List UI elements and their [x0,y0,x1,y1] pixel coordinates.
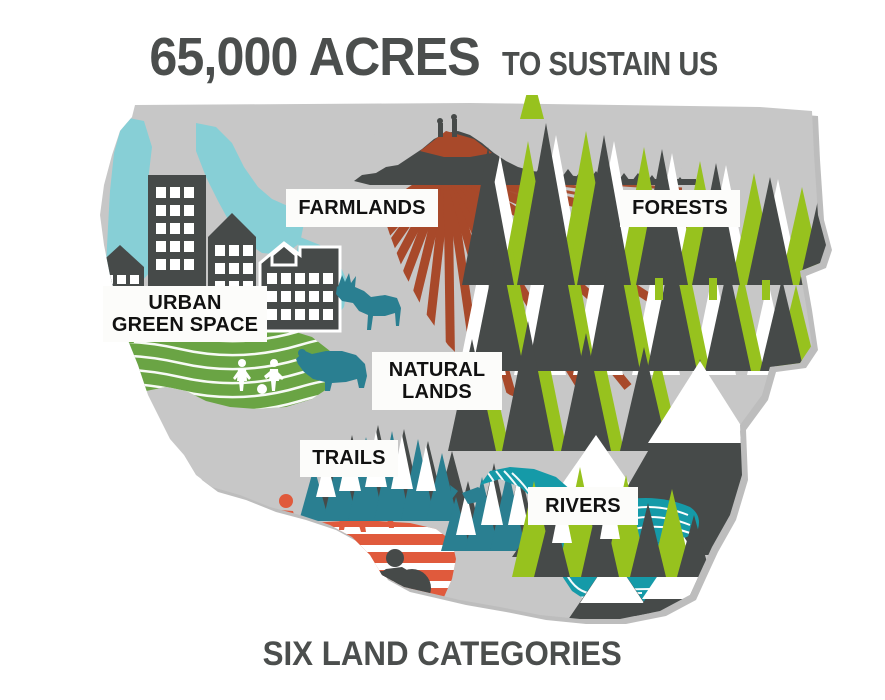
infographic-page: 65,000 ACRESTO SUSTAIN US [0,0,885,700]
footer-caption: SIX LAND CATEGORIES [0,635,885,674]
title-main-text: 65,000 ACRES [150,26,480,88]
footer-caption-text: SIX LAND CATEGORIES [263,635,622,674]
title-sub-text: TO SUSTAIN US [502,45,718,83]
conifer-tree-icon [520,95,544,119]
map-label-rivers[interactable]: RIVERS [528,487,638,525]
map-label-natural-lands[interactable]: NATURAL LANDS [372,352,502,410]
map-label-trails[interactable]: TRAILS [300,440,398,477]
map-label-urban-green-space[interactable]: URBAN GREEN SPACE [103,286,267,342]
page-title: 65,000 ACRESTO SUSTAIN US [0,26,885,88]
map-label-farmlands[interactable]: FARMLANDS [286,189,438,227]
map-label-forests[interactable]: FORESTS [620,190,740,227]
